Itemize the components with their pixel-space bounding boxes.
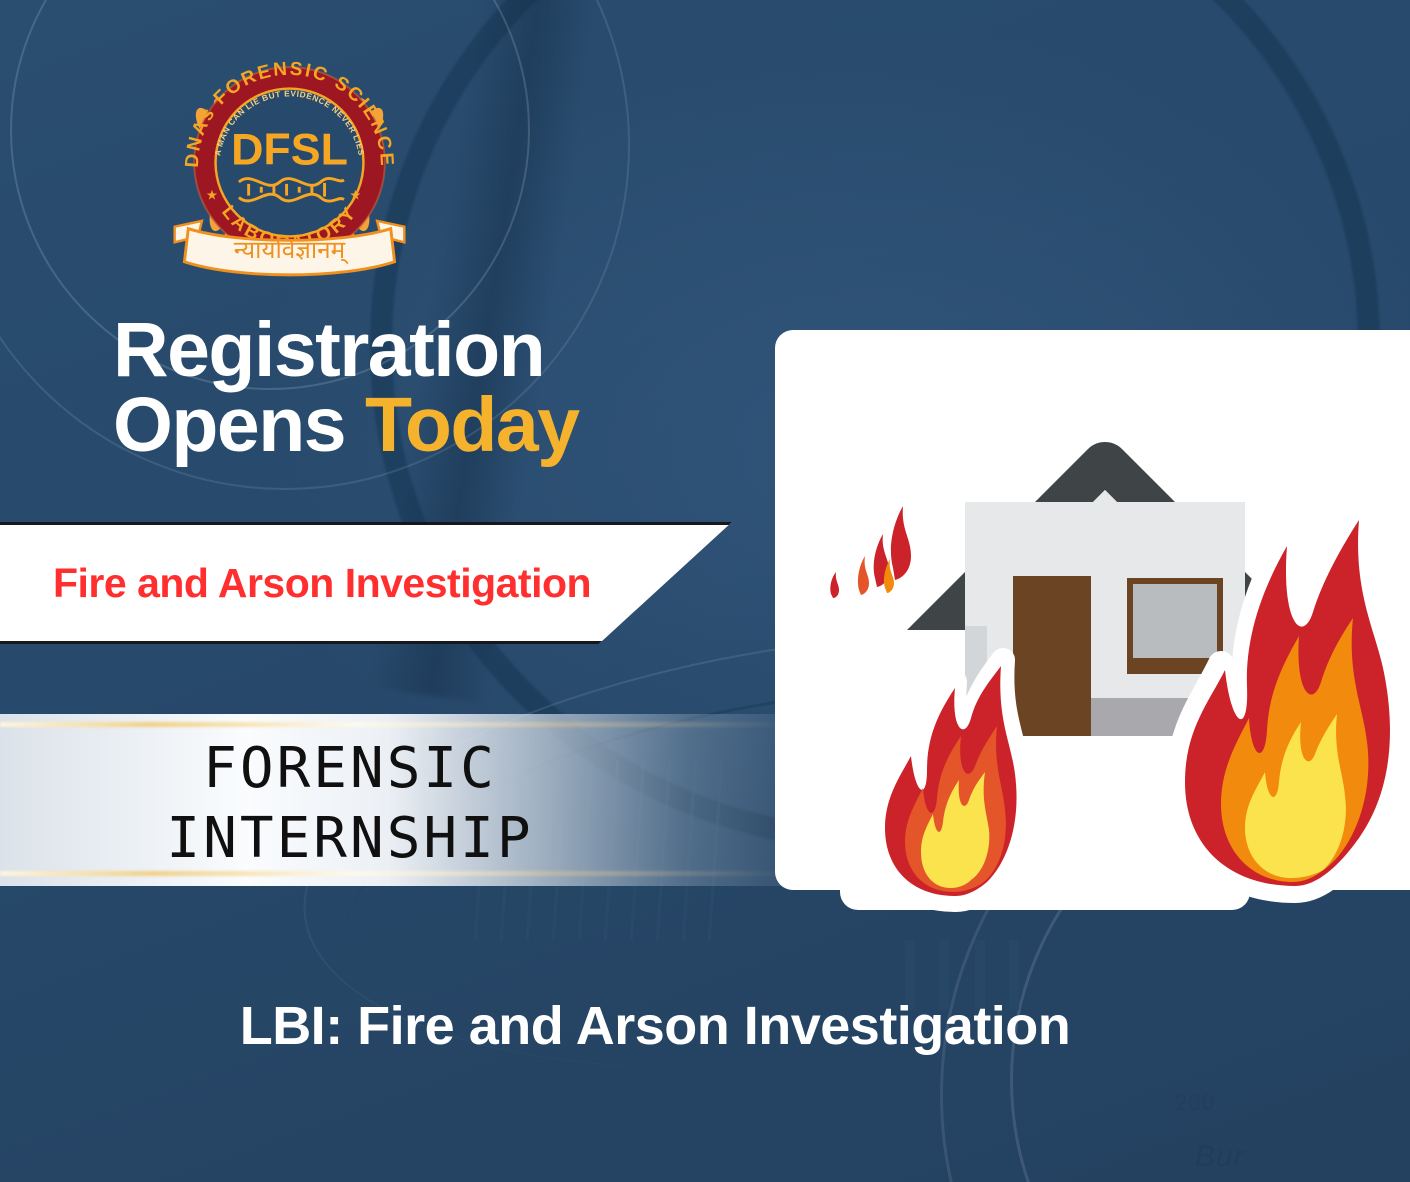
background-ghost-word: Bur [1195, 1140, 1245, 1174]
house-door [1013, 576, 1091, 736]
emblem-star-right: ★ [349, 187, 361, 202]
headline-line-2-accent: Today [365, 382, 579, 468]
course-banner-label: Fire and Arson Investigation [53, 560, 591, 607]
background-ghost-number: 200 [1175, 1090, 1215, 1116]
promo-poster: 200 Bur [0, 0, 1410, 1182]
program-banner-text: FORENSIC INTERNSHIP [0, 734, 700, 874]
program-banner: FORENSIC INTERNSHIP [0, 714, 880, 886]
roof-flames-small [830, 506, 911, 598]
program-banner-line-1: FORENSIC [0, 734, 700, 804]
burning-house-illustration [775, 330, 1410, 930]
headline-line-2: Opens Today [113, 388, 753, 463]
headline: Registration Opens Today [113, 313, 753, 464]
emblem-star-left: ★ [206, 187, 218, 202]
page-title: LBI: Fire and Arson Investigation [0, 995, 1310, 1057]
program-banner-edge-top [0, 722, 840, 727]
headline-line-1: Registration [113, 313, 753, 388]
program-banner-line-2: INTERNSHIP [0, 804, 700, 874]
emblem-center-text: DFSL [231, 124, 348, 174]
headline-line-2-white: Opens [113, 382, 365, 468]
dfsl-logo: DNAs FORENSIC SCIENCE LABORATORY A MAN C… [163, 35, 416, 290]
emblem-ribbon-text: न्यायविज्ञानम् [234, 235, 349, 265]
flame-small-door [879, 660, 1021, 900]
dfsl-emblem-icon: DNAs FORENSIC SCIENCE LABORATORY A MAN C… [163, 35, 416, 290]
